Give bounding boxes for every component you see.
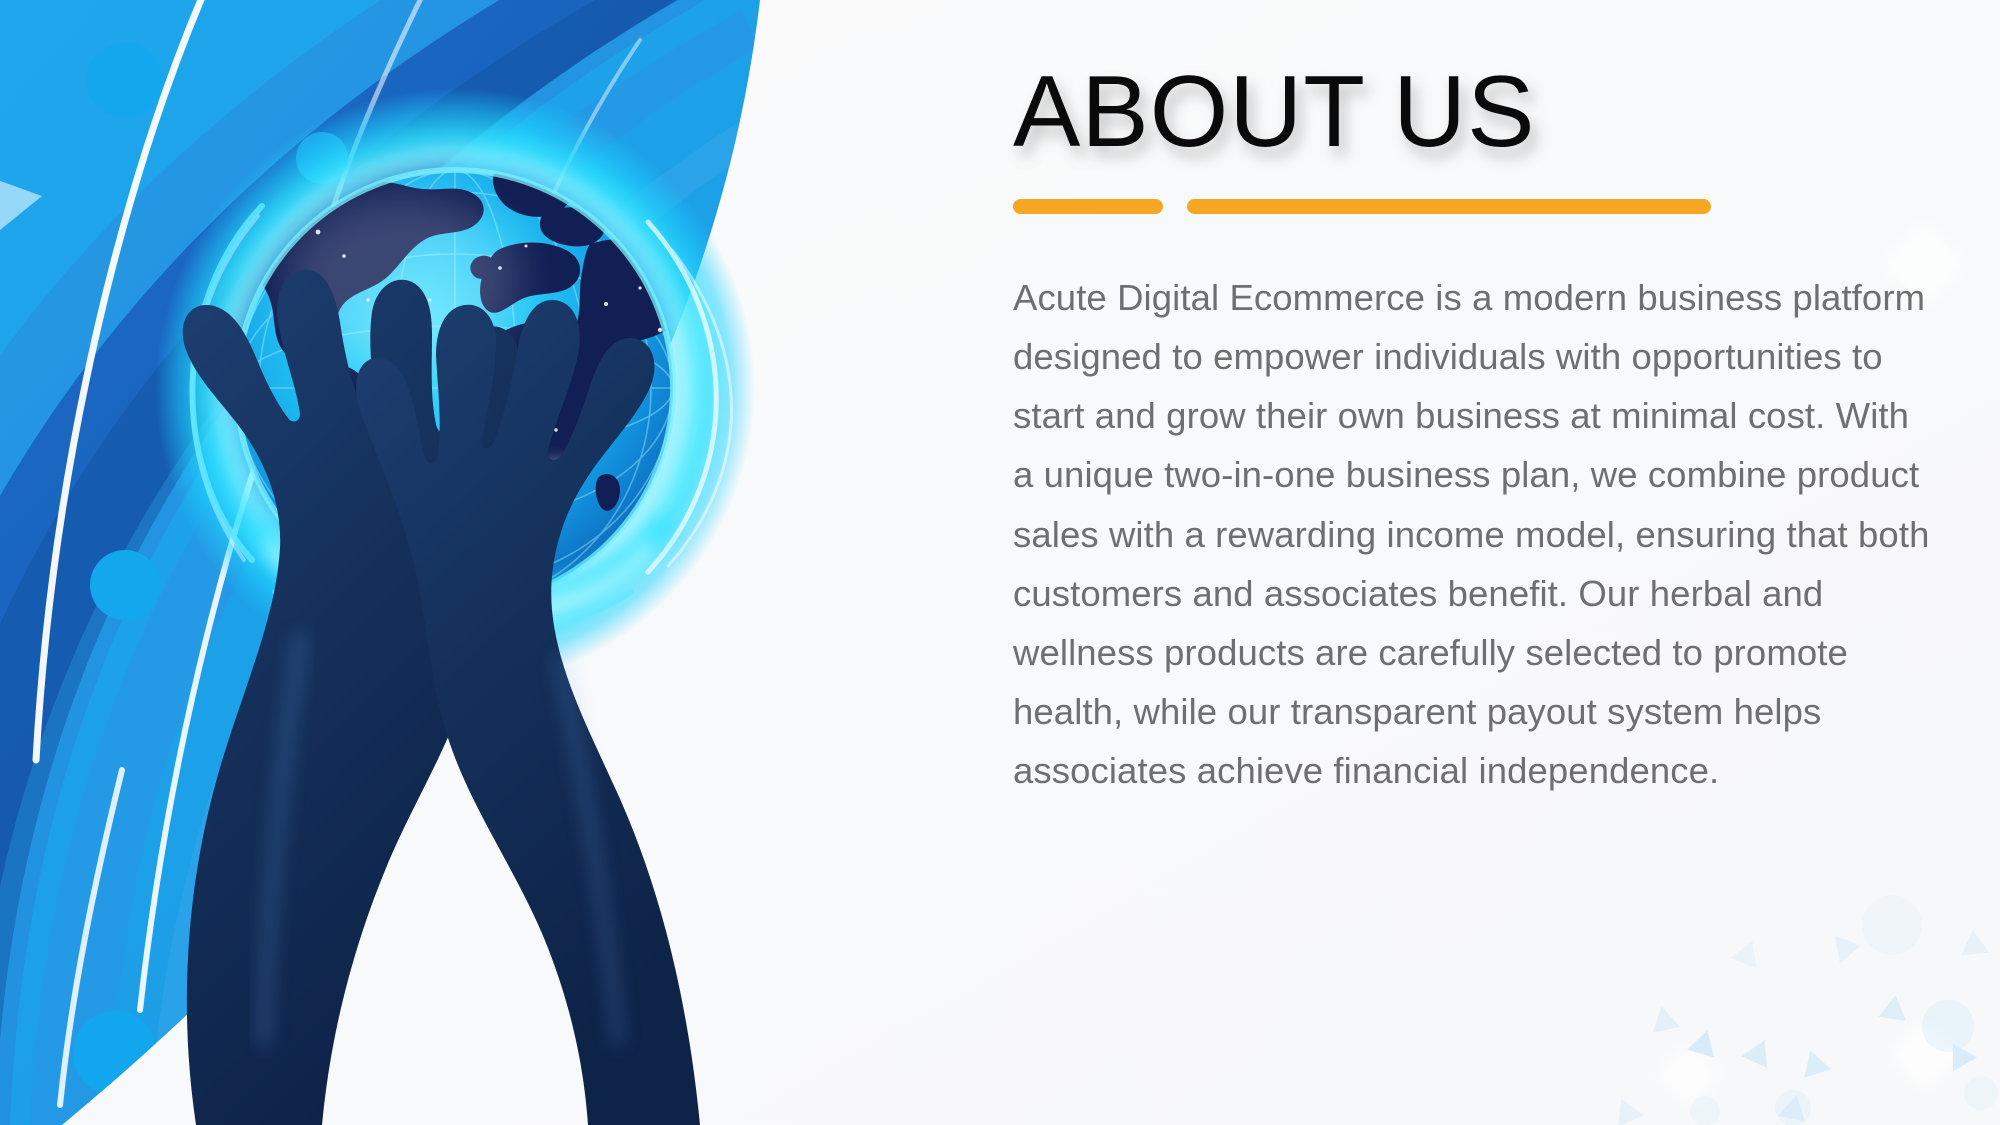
text-column: ABOUT US Acute Digital Ecommerce is a mo… [1013,58,1933,837]
accent-circle [73,1011,157,1095]
dot-decoration [1964,1076,1998,1110]
accent-bar-long [1187,199,1711,214]
accent-circle [87,42,163,118]
accent-circle [90,550,160,620]
about-body-text: Acute Digital Ecommerce is a modern busi… [1013,268,1931,800]
triangle-decoration [1742,1040,1779,1076]
dot-decoration [1922,1000,1974,1052]
hero-illustration [0,0,1010,1125]
title-underline-group [1013,199,1933,214]
dot-decoration [1775,1090,1811,1125]
triangle-decoration [1797,1046,1831,1077]
triangle-decoration [1731,936,1766,969]
dot-decoration [1862,895,1922,955]
about-us-slide: ABOUT US Acute Digital Ecommerce is a mo… [0,0,2000,1125]
triangle-decoration [1687,1027,1721,1058]
triangle-decoration [1959,929,1989,956]
triangle-decoration [1827,936,1862,968]
dot-decoration [1690,1096,1720,1125]
page-title: ABOUT US [1013,58,1933,167]
globe-in-hands-illustration [0,0,1010,1125]
triangle-decoration [1648,1003,1680,1032]
accent-bar-short [1013,199,1163,214]
triangle-decoration [1878,993,1909,1021]
diamond-decoration [1665,1051,1713,1099]
triangle-decoration [1608,1093,1643,1125]
